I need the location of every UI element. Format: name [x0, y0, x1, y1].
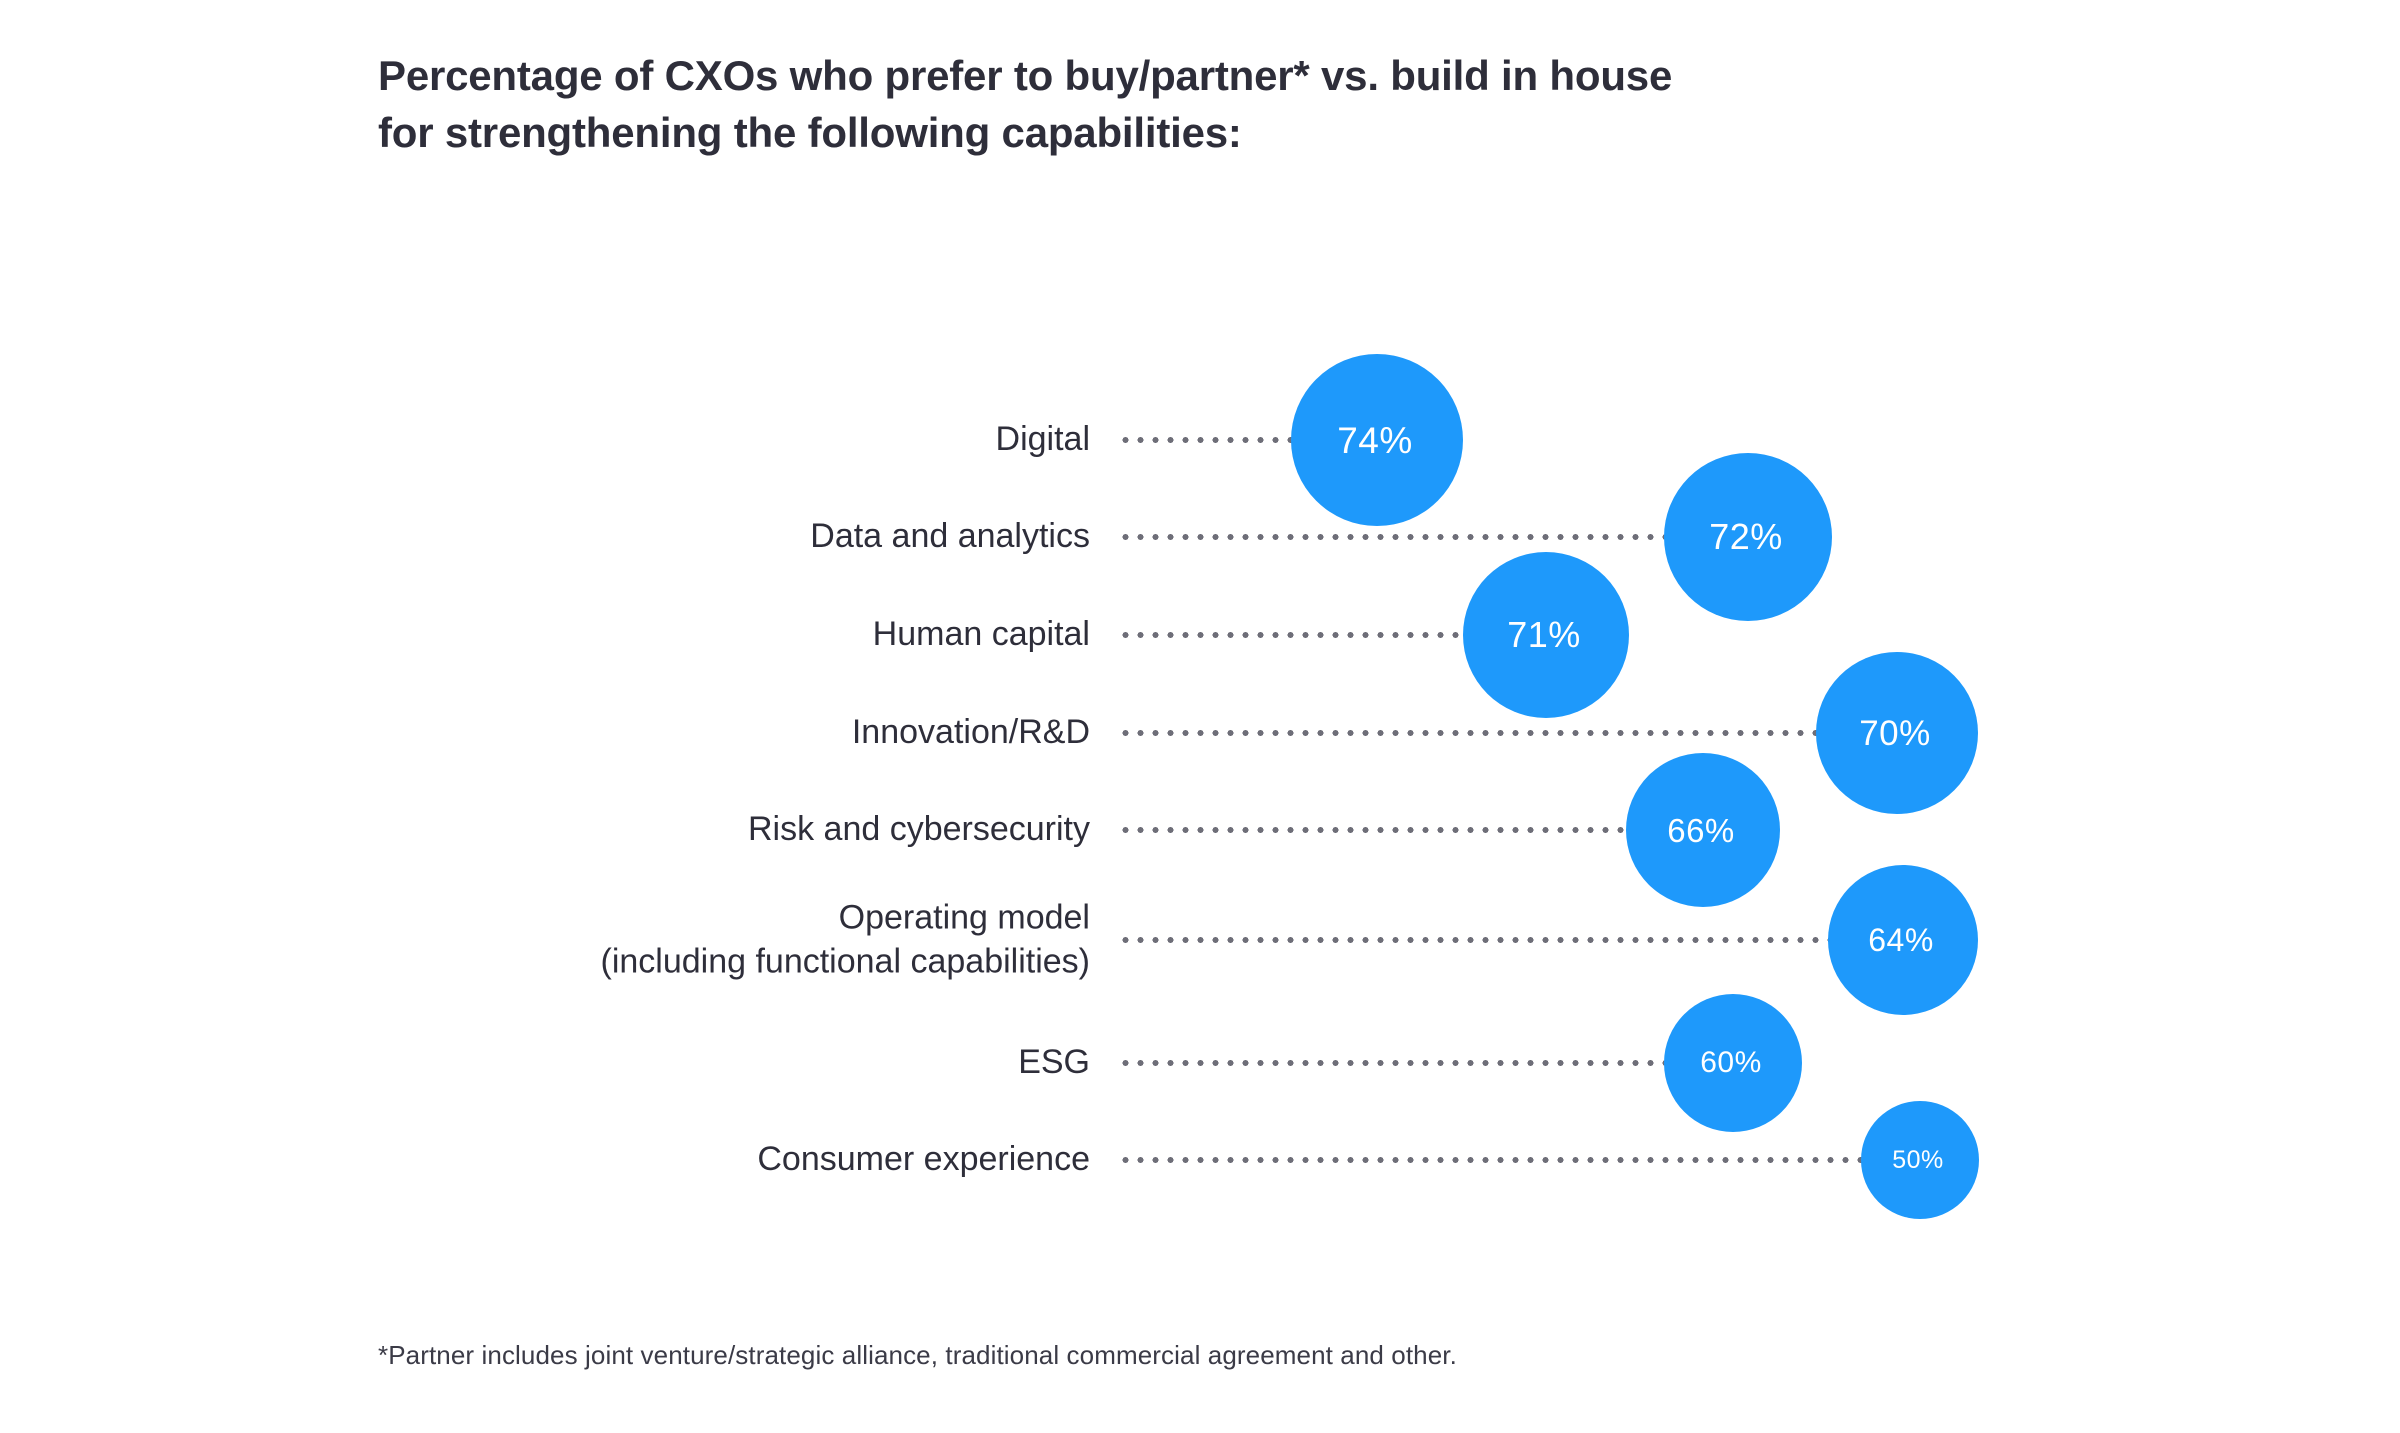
- leader-dotted-line: [1118, 1157, 1865, 1163]
- bubble-value-label: 50%: [1892, 1148, 1944, 1173]
- leader-dotted-line: [1118, 534, 1670, 540]
- bubble-value-label: 71%: [1507, 617, 1581, 653]
- category-label: Innovation/R&D: [90, 711, 1090, 755]
- bubble-value-label: 64%: [1868, 924, 1934, 956]
- value-bubble: 50%: [1861, 1101, 1979, 1219]
- chart-root: Percentage of CXOs who prefer to buy/par…: [0, 0, 2400, 1433]
- value-bubble: 60%: [1664, 994, 1802, 1132]
- category-label: Operating model (including functional ca…: [90, 896, 1090, 983]
- category-label: Data and analytics: [90, 515, 1090, 559]
- leader-dotted-line: [1118, 1060, 1668, 1066]
- bubble-value-label: 74%: [1337, 422, 1413, 459]
- leader-dotted-line: [1118, 632, 1468, 638]
- category-label: Digital: [90, 418, 1090, 462]
- chart-footnote: *Partner includes joint venture/strategi…: [378, 1340, 1457, 1371]
- bubble-value-label: 70%: [1859, 716, 1931, 751]
- leader-dotted-line: [1118, 730, 1820, 736]
- bubble-value-label: 60%: [1700, 1048, 1762, 1078]
- category-label: Risk and cybersecurity: [90, 808, 1090, 852]
- bubble-plot-area: Digital74%Data and analytics72%Human cap…: [0, 0, 2400, 1433]
- bubble-value-label: 72%: [1709, 519, 1783, 555]
- value-bubble: 74%: [1291, 354, 1463, 526]
- value-bubble: 70%: [1816, 652, 1978, 814]
- category-label: Human capital: [90, 613, 1090, 657]
- bubble-value-label: 66%: [1667, 814, 1735, 847]
- leader-dotted-line: [1118, 827, 1630, 833]
- category-label: ESG: [90, 1041, 1090, 1085]
- value-bubble: 72%: [1664, 453, 1832, 621]
- leader-dotted-line: [1118, 937, 1832, 943]
- value-bubble: 64%: [1828, 865, 1978, 1015]
- value-bubble: 66%: [1626, 753, 1780, 907]
- leader-dotted-line: [1118, 437, 1300, 443]
- value-bubble: 71%: [1463, 552, 1629, 718]
- category-label: Consumer experience: [90, 1138, 1090, 1182]
